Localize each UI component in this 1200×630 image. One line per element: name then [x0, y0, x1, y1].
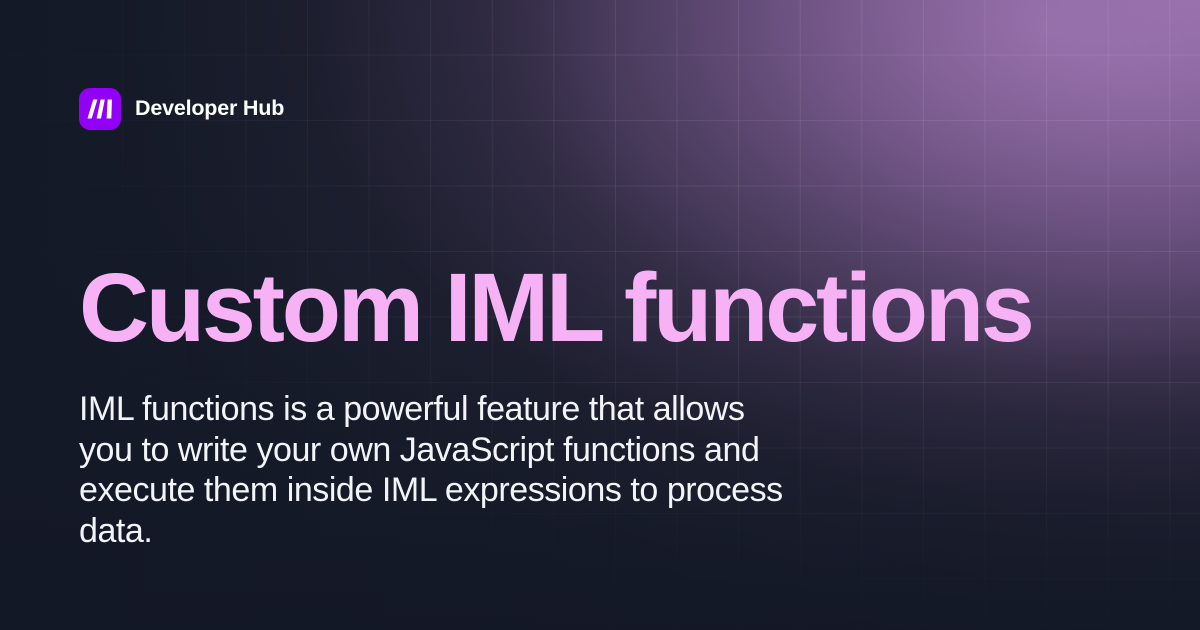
og-banner-canvas: Developer Hub Custom IML functions IML f… [0, 0, 1200, 630]
brand-lockup: Developer Hub [79, 88, 284, 130]
banner-content: Developer Hub Custom IML functions IML f… [0, 0, 1200, 630]
page-title: Custom IML functions [79, 259, 1139, 356]
brand-name-label: Developer Hub [135, 98, 284, 120]
page-description: IML functions is a powerful feature that… [79, 389, 794, 551]
make-logo-icon [79, 88, 121, 130]
